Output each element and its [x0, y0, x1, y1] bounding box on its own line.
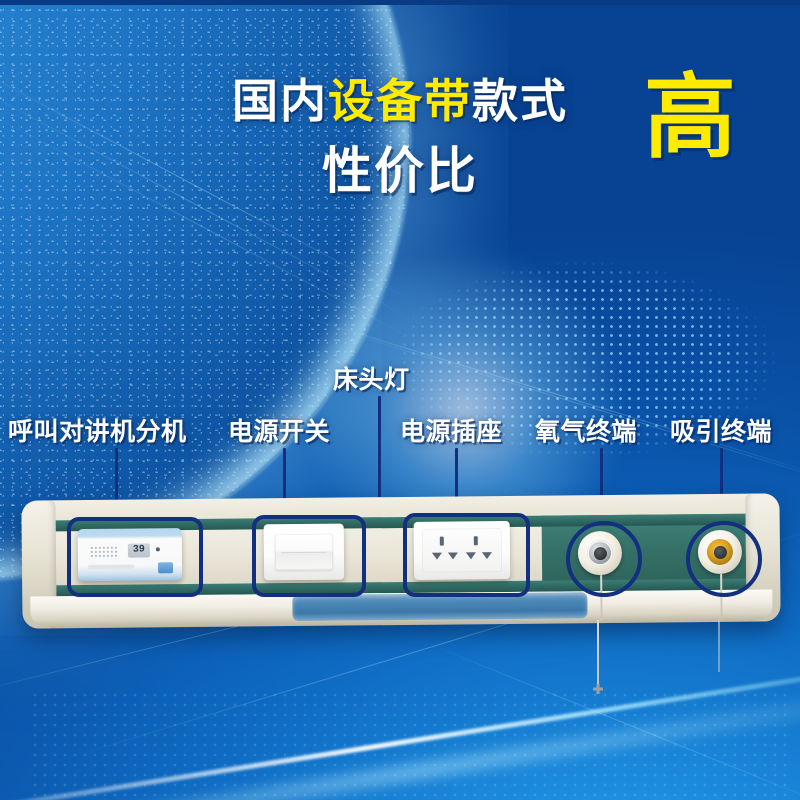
highlight-circle-suction	[686, 521, 762, 597]
callout-label-suction-terminal: 吸引终端	[670, 412, 772, 448]
suction-hanging-cord	[718, 620, 720, 672]
callout-label-power-socket: 电源插座	[400, 412, 502, 448]
callout-layer: 呼叫对讲机分机 电源开关 床头灯 电源插座 氧气终端 吸引终端	[0, 0, 800, 800]
callout-label-intercom: 呼叫对讲机分机	[8, 412, 187, 448]
highlight-box-power-socket	[403, 513, 530, 597]
highlight-box-power-switch	[252, 515, 366, 597]
callout-label-bed-lamp: 床头灯	[333, 360, 410, 396]
medical-bedhead-panel: 39	[22, 497, 780, 625]
callout-label-oxygen-terminal: 氧气终端	[535, 412, 637, 448]
promo-image: 国内设备带款式 性价比 高 呼叫对讲机分机 电源开关 床头灯 电源插座 氧气终端…	[0, 0, 800, 800]
highlight-circle-oxygen	[566, 521, 642, 597]
callout-label-power-switch: 电源开关	[228, 412, 330, 448]
highlight-box-intercom	[67, 517, 203, 597]
oxygen-hanging-cord	[597, 620, 599, 688]
